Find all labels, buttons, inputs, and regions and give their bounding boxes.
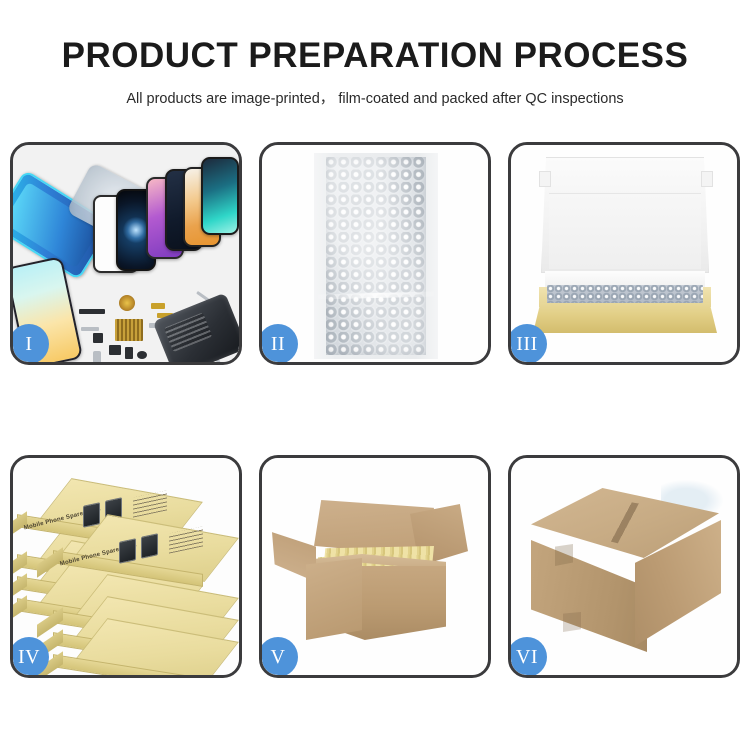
step-panel-4[interactable]: Mobile Phone Spare Parts Mobile Phone Sp… (10, 455, 242, 678)
inner-box-lid-inner-face (549, 193, 701, 269)
phone-teal-display (201, 157, 239, 235)
part-chip-grid (115, 319, 143, 341)
inner-box-tray-front (533, 303, 717, 333)
part-vibrator (137, 351, 147, 359)
step-panel-5[interactable]: V (259, 455, 491, 678)
step-panel-3[interactable]: III (508, 142, 740, 365)
step-image-bubble-wrap: II (262, 145, 488, 362)
part-bracket (81, 327, 99, 331)
inner-box-lid-tab-left (539, 171, 551, 187)
header: PRODUCT PREPARATION PROCESS All products… (0, 0, 750, 108)
page-subtitle: All products are image-printed， film-coa… (0, 73, 750, 108)
page-title: PRODUCT PREPARATION PROCESS (0, 0, 750, 73)
step-image-products-and-parts: I (13, 145, 239, 362)
part-battery-strip (79, 309, 105, 314)
step-badge-5: V (262, 637, 298, 675)
step-badge-4: IV (13, 637, 49, 675)
part-coil (119, 295, 135, 311)
step-badge-1: I (13, 324, 49, 362)
part-ic (109, 345, 121, 355)
carton-body-left (306, 558, 362, 640)
step-badge-3: III (511, 324, 547, 362)
bubble-wrap-highlight (326, 157, 426, 355)
step-panel-2[interactable]: II (259, 142, 491, 365)
step-panel-6[interactable]: VI (508, 455, 740, 678)
sealed-carton-tab-upper (555, 544, 573, 566)
steps-grid: I II III (10, 142, 740, 678)
sealed-carton-tab-lower (563, 612, 581, 632)
part-button (125, 347, 133, 359)
part-camera-module (93, 333, 103, 343)
step-image-stacked-retail-boxes: Mobile Phone Spare Parts Mobile Phone Sp… (13, 458, 239, 675)
step-panel-1[interactable]: I (10, 142, 242, 365)
step-badge-6: VI (511, 637, 547, 675)
step-image-inner-box-foam: III (511, 145, 737, 362)
part-connector-gold (151, 303, 165, 309)
part-sim-tray (93, 351, 101, 362)
product-preparation-infographic: PRODUCT PREPARATION PROCESS All products… (0, 0, 750, 750)
retail-box-phone-image-b2 (141, 533, 158, 559)
step-image-carton-sealed: VI (511, 458, 737, 675)
retail-box-stack: Mobile Phone Spare Parts Mobile Phone Sp… (17, 468, 235, 668)
step-badge-2: II (262, 324, 298, 362)
retail-box-phone-image-b1 (119, 538, 136, 564)
sealed-carton-left-face (531, 540, 647, 652)
step-image-carton-filled: V (262, 458, 488, 675)
inner-box-lid-tab-right (701, 171, 713, 187)
retail-box-phone-image-a1 (83, 502, 100, 528)
